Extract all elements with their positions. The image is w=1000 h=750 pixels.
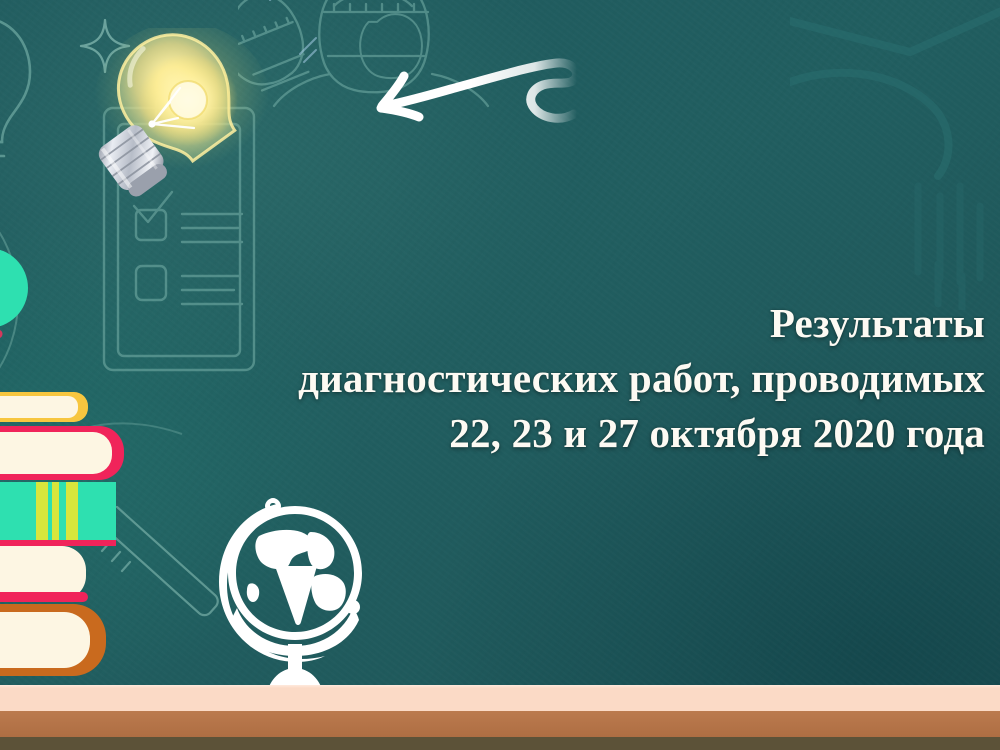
shelf-top-surface [0, 685, 1000, 711]
shelf-front-edge [0, 711, 1000, 737]
chalk-arrow-left-icon [362, 48, 577, 143]
chalk-faint-marks [790, 0, 1000, 310]
title-line-1: Результаты [45, 296, 985, 351]
book-white [0, 546, 88, 602]
shelf-shadow-edge [0, 737, 1000, 750]
book-orange [0, 604, 106, 676]
title-line-3: 22, 23 и 27 октября 2020 года [45, 406, 985, 461]
page-title: Результаты диагностических работ, провод… [45, 296, 985, 461]
glowing-lightbulb-icon [78, 28, 268, 213]
book-turquoise [0, 482, 116, 546]
presentation-slide: Результаты диагностических работ, провод… [0, 0, 1000, 750]
chalk-globe-icon [215, 492, 375, 707]
apple-sphere-icon [0, 230, 44, 340]
title-line-2: диагностических работ, проводимых [45, 351, 985, 406]
wooden-shelf [0, 685, 1000, 750]
